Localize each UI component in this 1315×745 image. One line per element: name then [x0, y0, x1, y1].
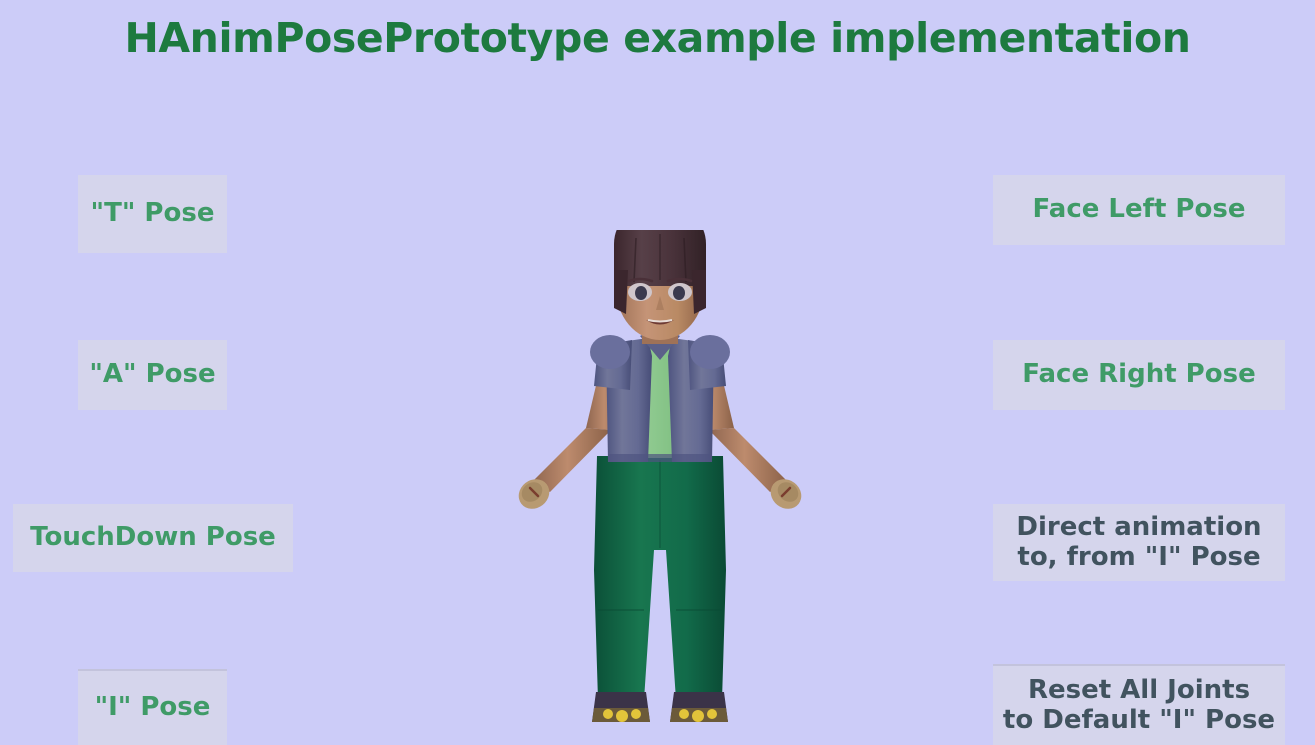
direct-animation-label-line1: Direct animation [1016, 512, 1261, 542]
humanoid-avatar [490, 230, 830, 745]
i-pose-button[interactable]: "I" Pose [78, 669, 227, 745]
t-pose-button[interactable]: "T" Pose [78, 175, 227, 253]
face-left-pose-button[interactable]: Face Left Pose [993, 175, 1285, 245]
direct-animation-label: Direct animation to, from "I" Pose [999, 513, 1279, 571]
direct-animation-label-line2: to, from "I" Pose [1017, 542, 1260, 572]
reset-all-joints-label-line2: to Default "I" Pose [1003, 705, 1275, 735]
t-pose-label: "T" Pose [84, 199, 221, 228]
face-right-pose-label: Face Right Pose [999, 360, 1279, 389]
a-pose-button[interactable]: "A" Pose [78, 340, 227, 410]
touchdown-pose-label: TouchDown Pose [19, 523, 287, 552]
i-pose-label: "I" Pose [84, 693, 221, 722]
avatar-head [614, 230, 706, 340]
face-right-pose-button[interactable]: Face Right Pose [993, 340, 1285, 410]
a-pose-label: "A" Pose [84, 360, 221, 389]
direct-animation-button[interactable]: Direct animation to, from "I" Pose [993, 504, 1285, 581]
avatar-legs [594, 456, 726, 700]
avatar-torso [590, 330, 730, 462]
avatar-shoes [592, 692, 728, 722]
touchdown-pose-button[interactable]: TouchDown Pose [13, 504, 293, 572]
reset-all-joints-label: Reset All Joints to Default "I" Pose [999, 676, 1279, 734]
face-left-pose-label: Face Left Pose [999, 195, 1279, 224]
application-canvas: HAnimPosePrototype example implementatio… [0, 0, 1315, 745]
page-title: HAnimPosePrototype example implementatio… [0, 14, 1315, 62]
reset-all-joints-label-line1: Reset All Joints [1028, 675, 1250, 705]
reset-all-joints-button[interactable]: Reset All Joints to Default "I" Pose [993, 664, 1285, 745]
